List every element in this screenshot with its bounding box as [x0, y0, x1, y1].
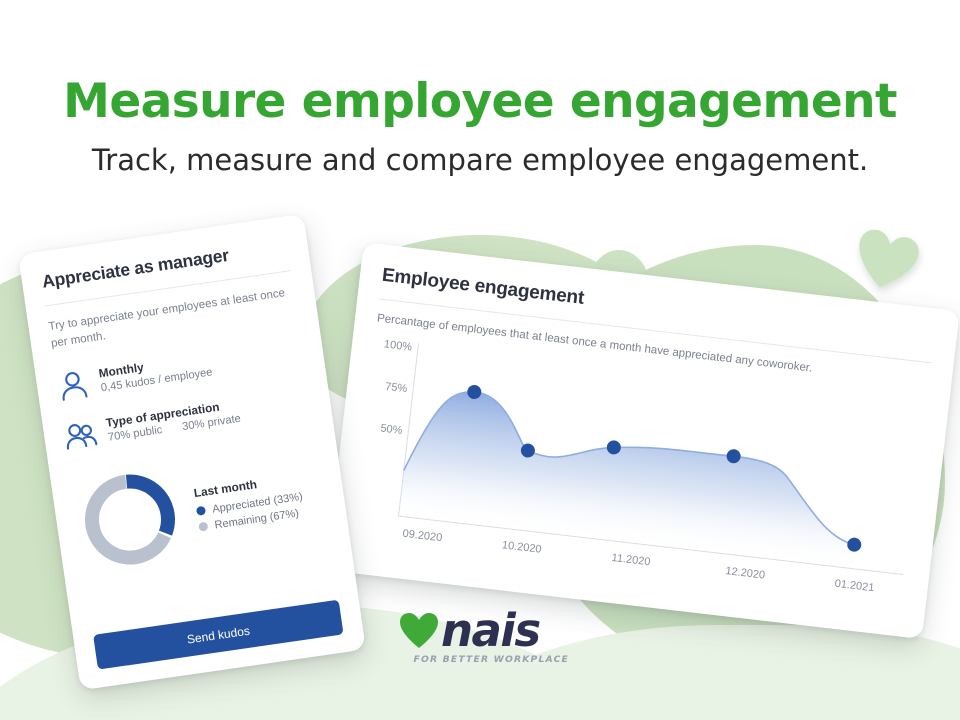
- employee-engagement-card: Employee engagement Percantage of employ…: [326, 242, 960, 639]
- spacer: [166, 431, 180, 433]
- donut-chart: [70, 459, 190, 579]
- y-tick-label: 100%: [383, 338, 413, 353]
- logo-tagline: FOR BETTER WORKPLACE: [399, 654, 569, 665]
- x-tick-label: 11.2020: [611, 552, 651, 568]
- legend-dot-icon: [196, 506, 206, 516]
- y-tick-label: 75%: [385, 381, 408, 395]
- page-subtitle: Track, measure and compare employee enga…: [0, 143, 960, 177]
- person-icon: [55, 367, 91, 403]
- promo-graphic: Measure employee engagement Track, measu…: [0, 0, 960, 720]
- last-month-donut-block: Last month Appreciated (33%) Remaining (…: [70, 439, 331, 579]
- logo-row: nais: [399, 608, 569, 653]
- chart-area-fill: [399, 385, 867, 569]
- legend-dot-icon: [198, 522, 208, 532]
- y-tick-label: 50%: [380, 423, 403, 437]
- people-group-icon: [62, 416, 98, 452]
- x-tick-label: 10.2020: [501, 539, 542, 555]
- logo-wordmark: nais: [441, 608, 540, 653]
- x-tick-label: 12.2020: [725, 565, 766, 581]
- heart-icon: [399, 612, 439, 650]
- x-tick-label: 01.2021: [834, 578, 875, 594]
- x-tick-label: 09.2020: [402, 528, 443, 544]
- nais-logo: nais FOR BETTER WORKPLACE: [399, 608, 569, 670]
- donut-legend: Last month Appreciated (33%) Remaining (…: [193, 470, 306, 533]
- page-title: Measure employee engagement: [0, 74, 960, 129]
